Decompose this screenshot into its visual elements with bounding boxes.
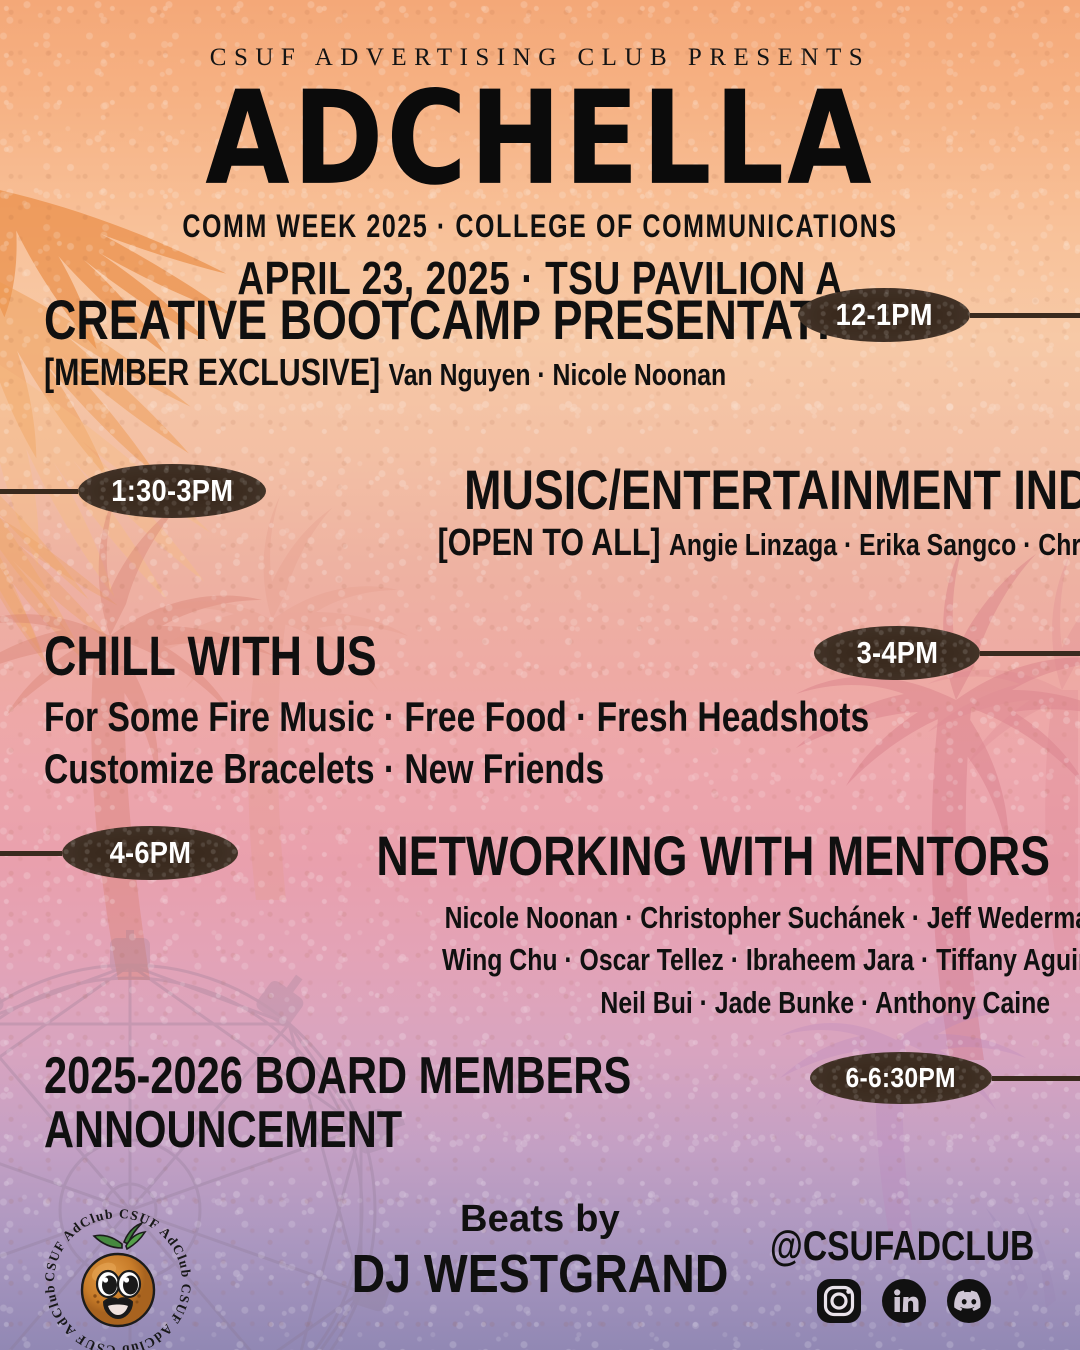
event-subtitle: [MEMBER EXCLUSIVE] Van Nguyen · Nicole N…	[44, 352, 726, 395]
event-access-tag: [MEMBER EXCLUSIVE]	[44, 352, 380, 394]
time-label: 6-6:30PM	[846, 1062, 956, 1094]
dj-name: DJ WESTGRAND	[352, 1243, 729, 1305]
event-chill-with-us: CHILL WITH US For Some Fire Music · Free…	[44, 628, 844, 793]
mentor-line-2: Wing Chu · Oscar Tellez · Ibraheem Jara …	[442, 940, 1080, 980]
event-creative-bootcamp: CREATIVE BOOTCAMP PRESENTATIONS [MEMBER …	[44, 292, 824, 395]
time-label: 12-1PM	[835, 297, 932, 333]
csuf-adclub-logo: CSUF AdClub CSUF AdClub CSUF AdClub CSUF…	[38, 1202, 198, 1350]
event-board-announcement: 2025-2026 BOARD MEMBERS ANNOUNCEMENT	[44, 1050, 764, 1156]
time-label: 3-4PM	[856, 635, 938, 671]
time-pill-6-630pm: 6-6:30PM	[810, 1052, 1080, 1104]
event-networking-mentors: NETWORKING WITH MENTORS Nicole Noonan · …	[190, 828, 1050, 1023]
social-links	[816, 1278, 992, 1329]
pill-connector-line	[0, 851, 62, 856]
linkedin-icon[interactable]	[881, 1278, 927, 1329]
poster-canvas: CSUF ADVERTISING CLUB PRESENTS ADCHELLA …	[0, 0, 1080, 1350]
time-pill-4-6pm: 4-6PM	[0, 826, 238, 880]
comm-week-line: COMM WEEK 2025 · COLLEGE OF COMMUNICATIO…	[0, 209, 1080, 246]
time-pill-130-3pm: 1:30-3PM	[0, 464, 266, 518]
event-music-panel: MUSIC/ENTERTAINMENT INDUSTRY PANEL [OPEN…	[230, 462, 1050, 565]
time-pill-12-1pm: 12-1PM	[798, 288, 1080, 342]
event-access-tag: [OPEN TO ALL]	[438, 522, 661, 564]
pill-connector-line	[980, 651, 1080, 656]
time-pill-3-4pm: 3-4PM	[814, 626, 1080, 680]
pill-connector-line	[970, 313, 1080, 318]
time-pill-body: 4-6PM	[62, 826, 238, 880]
poster-title: ADCHELLA	[0, 78, 1080, 201]
social-handle-text: @CSUFADCLUB	[770, 1222, 1034, 1270]
social-handle: @CSUFADCLUB	[704, 1222, 1034, 1270]
time-pill-body: 6-6:30PM	[810, 1052, 992, 1104]
event-title: NETWORKING WITH MENTORS	[376, 828, 1050, 884]
event-subtitle: [OPEN TO ALL] Angie Linzaga · Erika Sang…	[438, 522, 1080, 565]
mentor-line-3: Neil Bui · Jade Bunke · Anthony Caine	[600, 983, 1050, 1023]
pill-connector-line	[0, 489, 78, 494]
time-pill-body: 12-1PM	[798, 288, 970, 342]
time-label: 4-6PM	[109, 835, 191, 871]
event-people: Van Nguyen · Nicole Noonan	[389, 357, 727, 392]
time-label: 1:30-3PM	[111, 473, 233, 509]
event-people: Angie Linzaga · Erika Sangco · Christian…	[669, 527, 1080, 562]
time-pill-body: 1:30-3PM	[78, 464, 266, 518]
time-pill-body: 3-4PM	[814, 626, 980, 680]
event-title: CHILL WITH US	[44, 628, 377, 684]
event-title: MUSIC/ENTERTAINMENT INDUSTRY PANEL	[464, 462, 1080, 518]
discord-icon[interactable]	[946, 1278, 992, 1329]
event-title-line-2: ANNOUNCEMENT	[44, 1104, 402, 1156]
event-title-line-1: 2025-2026 BOARD MEMBERS	[44, 1050, 631, 1102]
event-detail-line-2: Customize Bracelets · New Friends	[44, 744, 604, 794]
mentor-line-1: Nicole Noonan · Christopher Suchánek · J…	[445, 898, 1080, 938]
instagram-icon[interactable]	[816, 1278, 862, 1329]
event-title: CREATIVE BOOTCAMP PRESENTATIONS	[44, 292, 927, 348]
event-detail-line-1: For Some Fire Music · Free Food · Fresh …	[44, 692, 869, 742]
poster-header: CSUF ADVERTISING CLUB PRESENTS ADCHELLA …	[0, 0, 1080, 300]
pill-connector-line	[992, 1076, 1080, 1081]
